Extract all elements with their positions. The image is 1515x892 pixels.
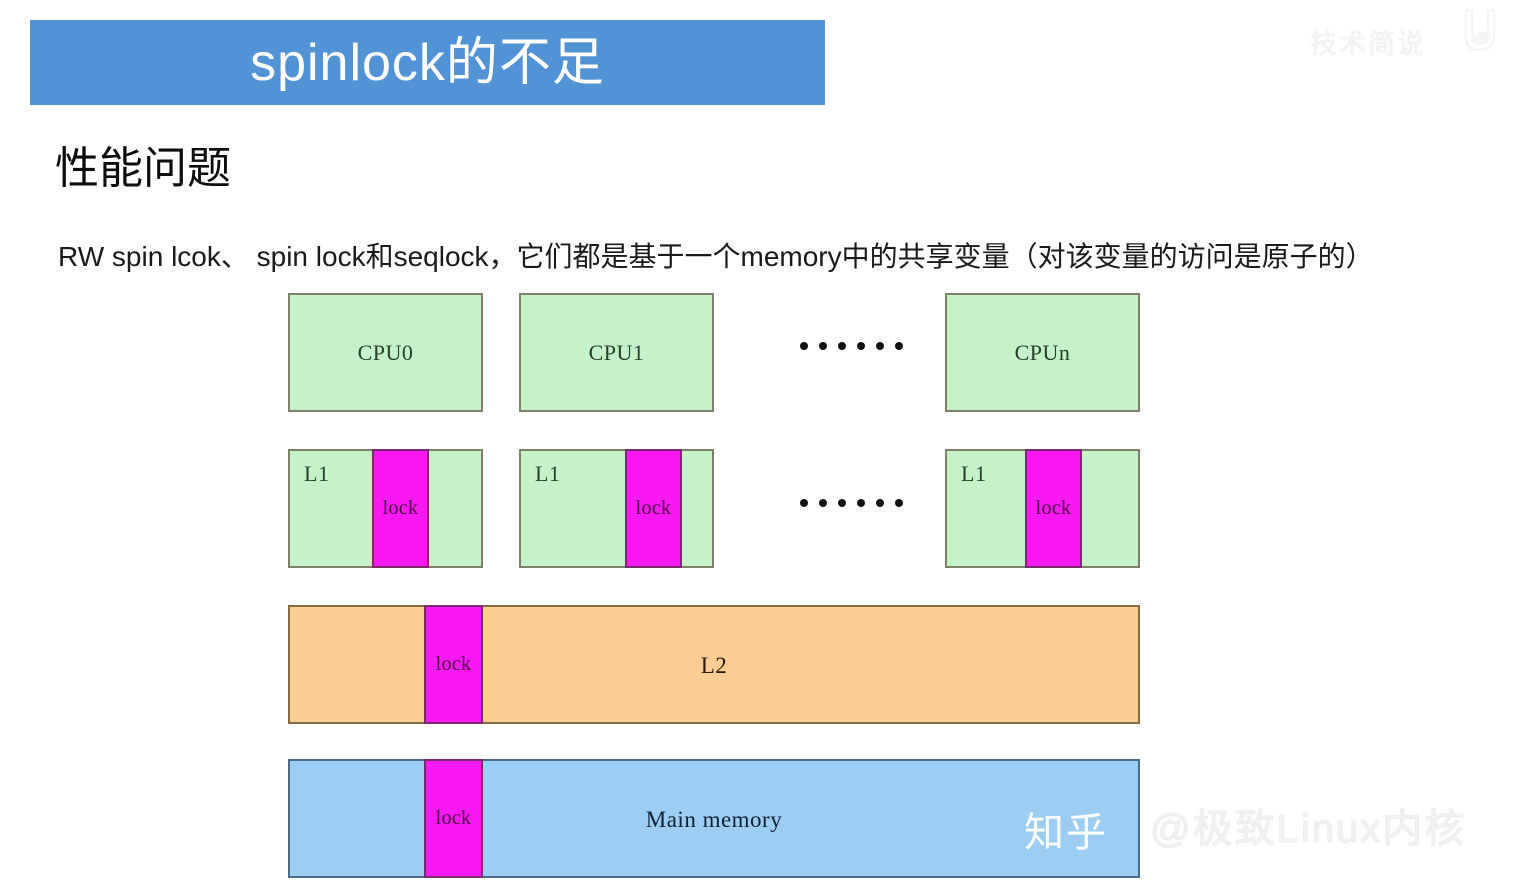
l1-cache-box-0: L1 lock (288, 449, 483, 568)
slide-canvas: spinlock的不足 性能问题 RW spin lcok、 spin lock… (0, 0, 1515, 892)
lock-block: lock (372, 449, 429, 568)
page-title: spinlock的不足 (250, 37, 605, 89)
title-banner: spinlock的不足 (30, 20, 825, 105)
lock-block: lock (625, 449, 682, 568)
zhihu-watermark-handle: @极致Linux内核 (1150, 796, 1466, 854)
l2-cache-band: lock L2 (288, 605, 1140, 724)
lock-block: lock (424, 759, 483, 878)
cpu-label: CPU0 (358, 340, 414, 366)
l1-cache-box-1: L1 lock (519, 449, 714, 568)
l1-row-ellipsis (800, 499, 903, 507)
lock-label: lock (1036, 497, 1072, 520)
cpu-label: CPU1 (589, 340, 645, 366)
l1-cache-box-n: L1 lock (945, 449, 1140, 568)
section-heading: 性能问题 (55, 147, 231, 191)
lock-label: lock (636, 497, 672, 520)
top-right-logo-icon (1462, 8, 1500, 54)
zhihu-watermark-badge: 知乎 (1024, 800, 1108, 858)
cpu-row-ellipsis (800, 342, 903, 350)
l1-label: L1 (961, 461, 986, 487)
main-memory-label: Main memory (646, 807, 782, 833)
lock-block: lock (424, 605, 483, 724)
body-paragraph: RW spin lcok、 spin lock和seqlock，它们都是基于一个… (58, 240, 1374, 274)
lock-label: lock (383, 497, 419, 520)
l2-label: L2 (701, 653, 728, 679)
cpu-box-0: CPU0 (288, 293, 483, 412)
l1-label: L1 (304, 461, 329, 487)
cpu-box-1: CPU1 (519, 293, 714, 412)
main-memory-band: lock Main memory (288, 759, 1140, 878)
lock-label: lock (436, 807, 472, 830)
cpu-box-n: CPUn (945, 293, 1140, 412)
lock-label: lock (436, 653, 472, 676)
lock-block: lock (1025, 449, 1082, 568)
top-right-watermark: 技术简说 (1310, 22, 1426, 61)
cpu-label: CPUn (1015, 340, 1071, 366)
l1-label: L1 (535, 461, 560, 487)
